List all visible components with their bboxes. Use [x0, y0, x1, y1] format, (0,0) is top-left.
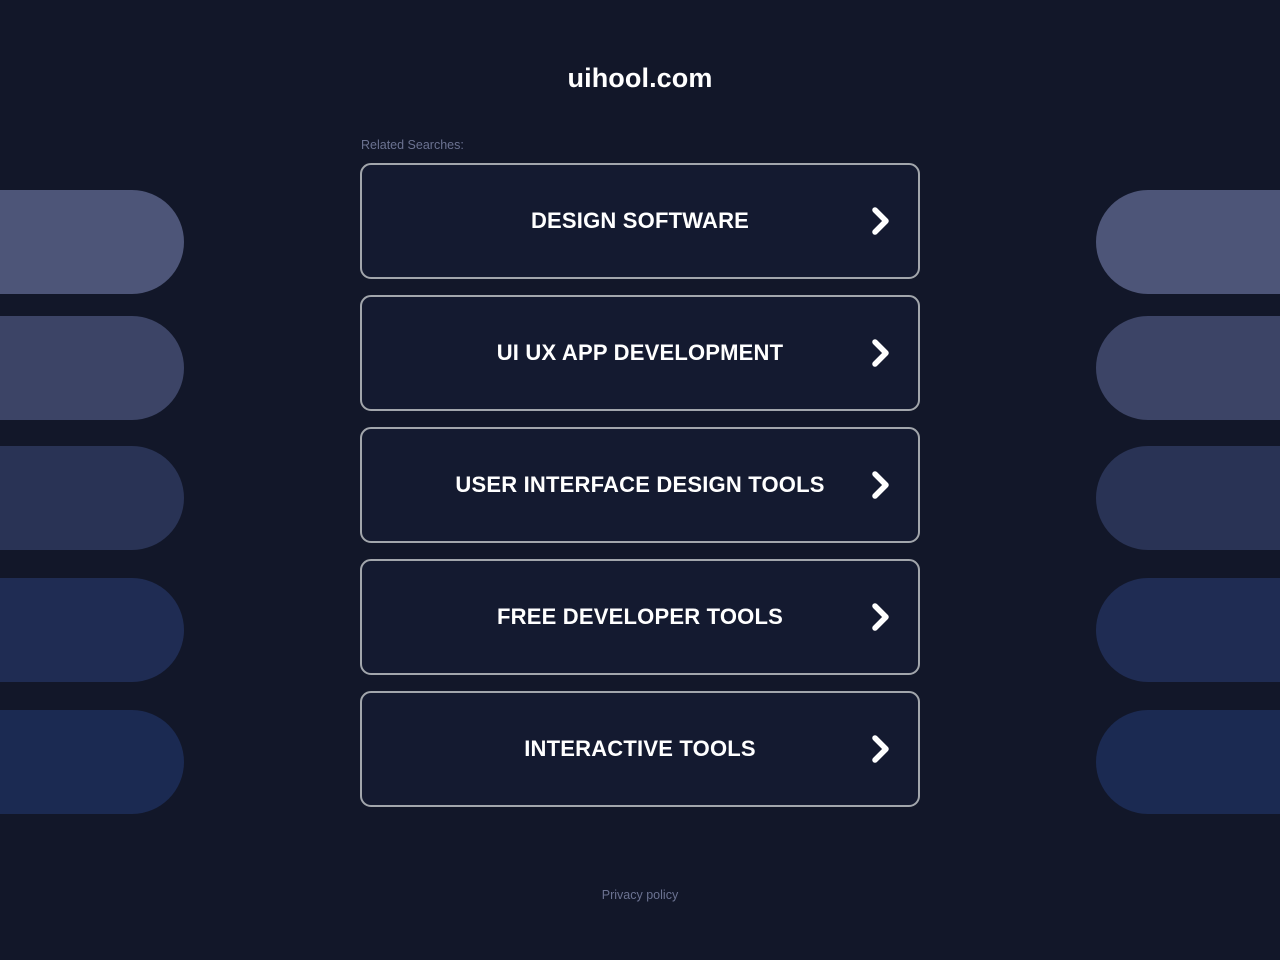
related-search-card[interactable]: DESIGN SOFTWARE [360, 163, 920, 279]
privacy-policy-link[interactable]: Privacy policy [602, 888, 678, 902]
parked-domain-page: uihool.com Related Searches: DESIGN SOFT… [0, 0, 1280, 960]
chevron-right-icon [868, 336, 894, 370]
related-searches-label: Related Searches: [360, 138, 920, 163]
related-search-label: FREE DEVELOPER TOOLS [433, 604, 847, 630]
related-search-label: DESIGN SOFTWARE [467, 208, 813, 234]
chevron-right-icon [868, 468, 894, 502]
related-search-label: USER INTERFACE DESIGN TOOLS [391, 472, 888, 498]
chevron-right-icon [868, 204, 894, 238]
related-search-card[interactable]: UI UX APP DEVELOPMENT [360, 295, 920, 411]
footer: Privacy policy [0, 886, 1280, 904]
related-search-label: UI UX APP DEVELOPMENT [433, 340, 848, 366]
related-search-card[interactable]: INTERACTIVE TOOLS [360, 691, 920, 807]
chevron-right-icon [868, 600, 894, 634]
related-search-label: INTERACTIVE TOOLS [460, 736, 820, 762]
page-title: uihool.com [0, 0, 1280, 94]
chevron-right-icon [868, 732, 894, 766]
related-searches-list: DESIGN SOFTWAREUI UX APP DEVELOPMENTUSER… [360, 163, 920, 807]
related-search-card[interactable]: USER INTERFACE DESIGN TOOLS [360, 427, 920, 543]
related-searches-section: Related Searches: DESIGN SOFTWAREUI UX A… [360, 94, 920, 807]
related-search-card[interactable]: FREE DEVELOPER TOOLS [360, 559, 920, 675]
